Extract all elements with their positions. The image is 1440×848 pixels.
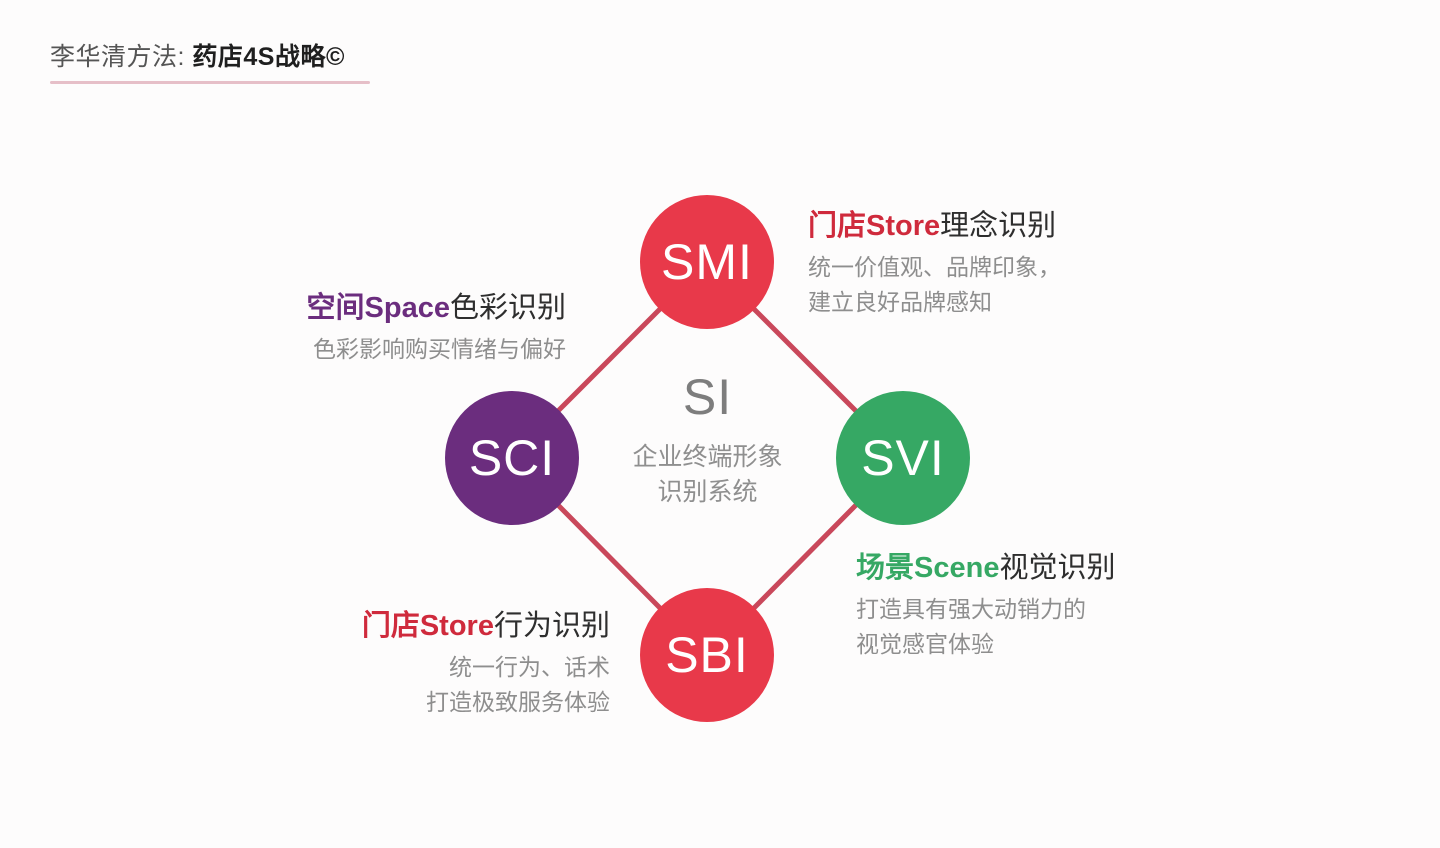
callout-svi: 场景Scene视觉识别 打造具有强大动销力的 视觉感官体验 xyxy=(856,550,1115,663)
center-subtitle-line-1: 企业终端形象 xyxy=(565,440,850,475)
node-sci[interactable]: SCI xyxy=(445,391,579,525)
callout-sci-tail: 色彩识别 xyxy=(450,292,566,324)
callout-sbi-tail: 行为识别 xyxy=(494,610,610,642)
callout-smi-accent: 门店Store xyxy=(808,210,940,242)
callout-svi-desc-line-2: 视觉感官体验 xyxy=(856,627,1115,663)
callout-sbi-heading: 门店Store行为识别 xyxy=(296,608,610,646)
callout-sci-desc-line-1: 色彩影响购买情绪与偏好 xyxy=(236,332,566,368)
callout-smi-desc-line-1: 统一价值观、品牌印象， xyxy=(808,250,1061,286)
callout-svi-tail: 视觉识别 xyxy=(999,552,1115,584)
node-sci-label: SCI xyxy=(469,433,555,483)
connector-svi-sbi xyxy=(754,505,856,608)
callout-svi-accent: 场景Scene xyxy=(856,552,999,584)
callout-svi-heading: 场景Scene视觉识别 xyxy=(856,550,1115,588)
node-sbi-label: SBI xyxy=(665,630,749,680)
callout-smi: 门店Store理念识别 统一价值观、品牌印象， 建立良好品牌感知 xyxy=(808,208,1061,321)
center-subtitle-line-2: 识别系统 xyxy=(565,475,850,510)
si-diamond-diagram: SI 企业终端形象 识别系统 SMI SCI SVI SBI 门店Store理念… xyxy=(0,0,1440,848)
callout-smi-desc-line-2: 建立良好品牌感知 xyxy=(808,285,1061,321)
callout-smi-tail: 理念识别 xyxy=(940,210,1056,242)
center-label-block: SI 企业终端形象 识别系统 xyxy=(565,372,850,509)
node-sbi[interactable]: SBI xyxy=(640,588,774,722)
callout-sbi-desc-line-2: 打造极致服务体验 xyxy=(296,685,610,721)
callout-sci: 空间Space色彩识别 色彩影响购买情绪与偏好 xyxy=(236,290,566,367)
callout-svi-desc-line-1: 打造具有强大动销力的 xyxy=(856,592,1115,628)
callout-sbi-desc-line-1: 统一行为、话术 xyxy=(296,650,610,686)
connector-sbi-sci xyxy=(558,505,660,608)
center-title: SI xyxy=(565,372,850,422)
callout-sci-accent: 空间Space xyxy=(307,292,450,324)
callout-sbi: 门店Store行为识别 统一行为、话术 打造极致服务体验 xyxy=(296,608,610,721)
node-svi[interactable]: SVI xyxy=(836,391,970,525)
callout-sci-heading: 空间Space色彩识别 xyxy=(236,290,566,328)
node-smi[interactable]: SMI xyxy=(640,195,774,329)
node-svi-label: SVI xyxy=(861,433,945,483)
node-smi-label: SMI xyxy=(661,237,753,287)
callout-smi-heading: 门店Store理念识别 xyxy=(808,208,1061,246)
callout-sbi-accent: 门店Store xyxy=(362,610,494,642)
